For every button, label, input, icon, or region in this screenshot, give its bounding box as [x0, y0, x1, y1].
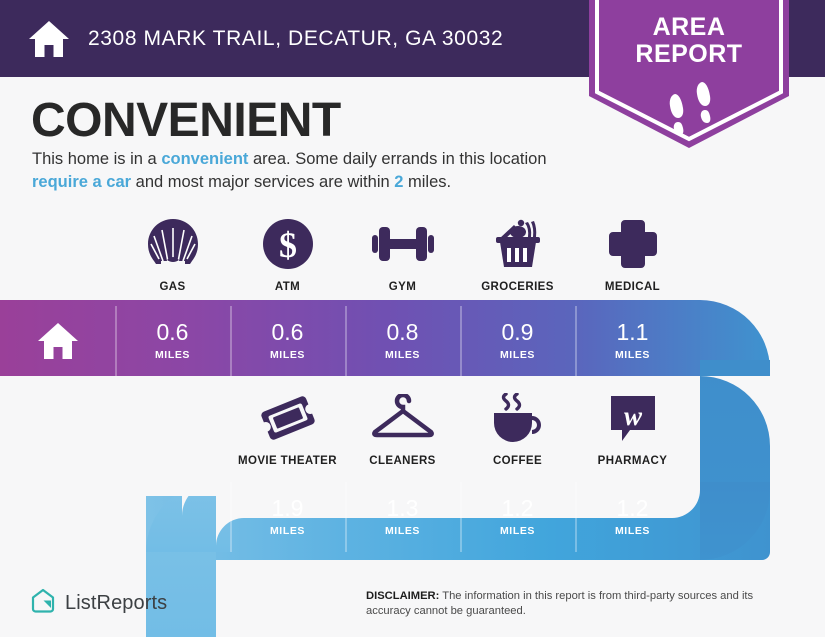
distance-groceries: 0.9 MILES — [460, 306, 575, 376]
medical-cross-icon — [607, 218, 659, 270]
movie-ticket-icon — [260, 392, 316, 444]
amenity-label: GYM — [389, 281, 416, 293]
listreports-logo-text: ListReports — [65, 592, 167, 615]
cell-divider — [575, 482, 577, 552]
distance-unit: MILES — [385, 525, 420, 537]
badge-line-1: AREA — [589, 14, 789, 41]
distance-row-bottom: 1.9 MILES 1.3 MILES 1.2 MILES 1.2 MILES — [0, 482, 825, 552]
groceries-basket-icon — [490, 218, 546, 270]
amenity-groceries: GROCERIES — [460, 218, 575, 293]
listreports-logo[interactable]: ListReports — [30, 588, 167, 619]
summary-highlight-require-a-car: require a car — [32, 173, 131, 191]
cell-divider — [230, 482, 232, 552]
cell-divider — [460, 306, 462, 376]
cleaners-hanger-icon — [371, 392, 435, 444]
svg-text:$: $ — [279, 225, 297, 265]
summary-part-1: This home is in a — [32, 150, 161, 168]
svg-text:w: w — [623, 401, 642, 431]
disclaimer-label: DISCLAIMER: — [366, 590, 439, 602]
distance-unit: MILES — [500, 349, 535, 361]
distance-unit: MILES — [270, 525, 305, 537]
amenity-gas: GAS — [115, 218, 230, 293]
subject-home-marker — [0, 306, 115, 376]
distance-coffee: 1.2 MILES — [460, 482, 575, 552]
pharmacy-walgreens-icon: w — [608, 392, 658, 444]
amenity-icon-row-top: GAS $ ATM — [0, 218, 825, 293]
distance-medical: 1.1 MILES — [575, 306, 690, 376]
coffee-cup-icon — [490, 392, 546, 444]
badge-label: AREA REPORT — [589, 14, 789, 67]
amenity-medical: MEDICAL — [575, 218, 690, 293]
home-icon — [28, 19, 70, 59]
area-report-badge: AREA REPORT — [589, 0, 789, 148]
amenity-label: GAS — [159, 281, 185, 293]
summary-text: This home is in a convenient area. Some … — [32, 148, 577, 195]
distance-value: 1.1 — [617, 321, 649, 344]
listreports-logo-icon — [30, 588, 56, 619]
amenity-label: MOVIE THEATER — [238, 455, 337, 467]
address-text: 2308 MARK TRAIL, DECATUR, GA 30032 — [88, 27, 503, 51]
area-report-infographic: 2308 MARK TRAIL, DECATUR, GA 30032 AREA … — [0, 0, 825, 637]
distance-unit: MILES — [385, 349, 420, 361]
gym-dumbbell-icon — [372, 218, 434, 270]
amenity-label: GROCERIES — [481, 281, 554, 293]
distance-value: 1.2 — [502, 497, 534, 520]
cell-divider — [345, 306, 347, 376]
distance-gym: 0.8 MILES — [345, 306, 460, 376]
distance-row-top: 0.6 MILES 0.6 MILES 0.8 MILES 0.9 MILES … — [0, 306, 825, 376]
distance-movie-theater: 1.9 MILES — [230, 482, 345, 552]
distance-atm: 0.6 MILES — [230, 306, 345, 376]
summary-highlight-convenient: convenient — [161, 150, 248, 168]
distance-cleaners: 1.3 MILES — [345, 482, 460, 552]
distance-value: 1.9 — [272, 497, 304, 520]
distance-unit: MILES — [500, 525, 535, 537]
summary-part-4: miles. — [403, 173, 451, 191]
distance-value: 0.8 — [387, 321, 419, 344]
distance-value: 0.9 — [502, 321, 534, 344]
distance-unit: MILES — [615, 349, 650, 361]
cell-divider — [575, 306, 577, 376]
summary-part-2: area. Some daily errands in this locatio… — [248, 150, 546, 168]
amenity-gym: GYM — [345, 218, 460, 293]
distance-pharmacy: 1.2 MILES — [575, 482, 690, 552]
amenity-label: CLEANERS — [369, 455, 435, 467]
amenity-movie-theater: MOVIE THEATER — [230, 392, 345, 467]
distance-unit: MILES — [155, 349, 190, 361]
amenity-pharmacy: w PHARMACY — [575, 392, 690, 467]
cell-divider — [345, 482, 347, 552]
cell-divider — [115, 306, 117, 376]
atm-dollar-icon: $ — [262, 218, 314, 270]
amenity-label: PHARMACY — [598, 455, 668, 467]
amenity-label: ATM — [275, 281, 300, 293]
badge-line-2: REPORT — [589, 41, 789, 68]
distance-gas: 0.6 MILES — [115, 306, 230, 376]
amenity-atm: $ ATM — [230, 218, 345, 293]
amenity-icon-row-bottom: MOVIE THEATER CLEANERS — [0, 392, 825, 467]
distance-unit: MILES — [615, 525, 650, 537]
page-title: CONVENIENT — [31, 93, 341, 148]
disclaimer: DISCLAIMER: The information in this repo… — [366, 589, 796, 619]
cell-divider — [230, 306, 232, 376]
distance-unit: MILES — [270, 349, 305, 361]
amenity-label: MEDICAL — [605, 281, 660, 293]
amenity-label: COFFEE — [493, 455, 542, 467]
distance-value: 1.2 — [617, 497, 649, 520]
distance-value: 0.6 — [157, 321, 189, 344]
gas-shell-icon — [146, 218, 200, 270]
amenity-coffee: COFFEE — [460, 392, 575, 467]
amenity-cleaners: CLEANERS — [345, 392, 460, 467]
distance-value: 1.3 — [387, 497, 419, 520]
distance-value: 0.6 — [272, 321, 304, 344]
summary-part-3: and most major services are within — [131, 173, 394, 191]
cell-divider — [460, 482, 462, 552]
